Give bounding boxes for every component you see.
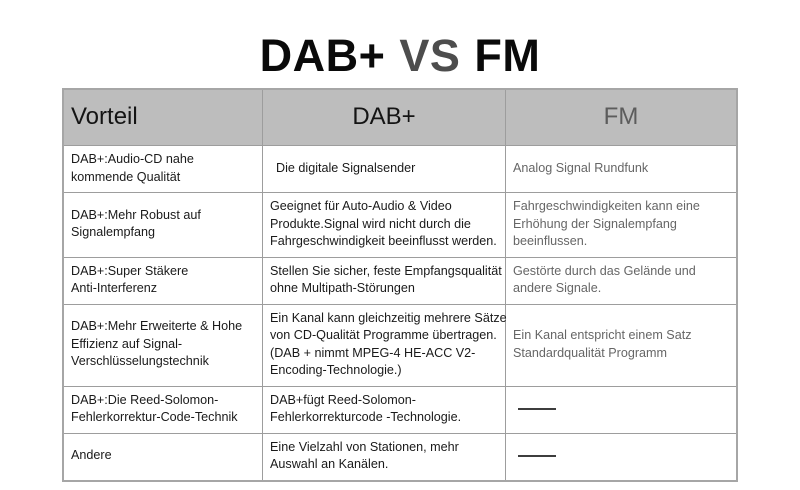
table-header-row: Vorteil DAB+ FM [64,90,736,146]
cell-text-line: Fahrgeschwindigkeit beeinflusst werden. [270,233,498,251]
cell-text-line: Erhöhung der Signalempfang [513,216,729,234]
page-root: DAB+VSFM Vorteil DAB+ FM DAB+:Audio-CD n… [0,0,800,490]
cell-text-line: Die digitale Signalsender [276,160,498,178]
cell-text-line: DAB+fügt Reed-Solomon- [270,392,498,410]
table-header: Vorteil DAB+ FM [64,90,736,146]
cell-text-line: Standardqualität Programm [513,345,729,363]
title-dab-plus: DAB+ [260,30,386,81]
cell-text-line: Anti-Interferenz [71,280,255,298]
cell-dab-plus: DAB+fügt Reed-Solomon-Fehlerkorrekturcod… [263,387,506,434]
cell-text-line: Eine Vielzahl von Stationen, mehr [270,439,498,457]
table-row: DAB+:Die Reed-Solomon-Fehlerkorrektur-Co… [64,387,736,434]
dash-icon [518,455,556,457]
cell-text-line: DAB+:Mehr Robust auf [71,207,255,225]
title-fm: FM [474,30,540,81]
cell-text-line: Stellen Sie sicher, feste Empfangsqualit… [270,263,498,281]
cell-text-line: DAB+:Die Reed-Solomon- [71,392,255,410]
cell-text-line: Analog Signal Rundfunk [513,160,729,178]
cell-advantage: DAB+:Super StäkereAnti-Interferenz [64,258,263,305]
cell-dab-plus: Stellen Sie sicher, feste Empfangsqualit… [263,258,506,305]
dash-icon [518,408,556,410]
cell-text-line: DAB+:Audio-CD nahe [71,151,255,169]
table-row: DAB+:Super StäkereAnti-InterferenzStelle… [64,258,736,305]
cell-text-line: Gestörte durch das Gelände und [513,263,729,281]
cell-advantage: DAB+:Mehr Erweiterte & HoheEffizienz auf… [64,305,263,387]
column-header-dab-plus: DAB+ [263,90,506,146]
cell-fm [506,434,736,480]
cell-text-line: DAB+:Super Stäkere [71,263,255,281]
table-row: AndereEine Vielzahl von Stationen, mehrA… [64,434,736,480]
column-header-fm: FM [506,90,736,146]
cell-text-line: Ein Kanal kann gleichzeitig mehrere Sätz… [270,310,498,328]
cell-text-line: Geeignet für Auto-Audio & Video [270,198,498,216]
table-body: DAB+:Audio-CD nahekommende QualitätDie d… [64,146,736,480]
cell-text-line: Fehlerkorrekturcode -Technologie. [270,409,498,427]
comparison-table: Vorteil DAB+ FM DAB+:Audio-CD nahekommen… [64,90,736,480]
cell-fm: Gestörte durch das Gelände undandere Sig… [506,258,736,305]
comparison-table-container: Vorteil DAB+ FM DAB+:Audio-CD nahekommen… [62,88,738,482]
cell-dab-plus: Geeignet für Auto-Audio & VideoProdukte.… [263,193,506,258]
cell-text-line: kommende Qualität [71,169,255,187]
cell-text-line: Fehlerkorrektur-Code-Technik [71,409,255,427]
page-title: DAB+VSFM [0,30,800,82]
cell-text-line: Produkte.Signal wird nicht durch die [270,216,498,234]
cell-text-line: Auswahl an Kanälen. [270,456,498,474]
cell-fm [506,387,736,434]
cell-text-line: andere Signale. [513,280,729,298]
cell-text-line: Ein Kanal entspricht einem Satz [513,327,729,345]
cell-text-line: Verschlüsselungstechnik [71,353,255,371]
cell-text-line: (DAB + nimmt MPEG-4 HE-ACC V2- [270,345,498,363]
cell-dab-plus: Die digitale Signalsender [263,146,506,193]
cell-text-line: Andere [71,447,255,465]
cell-dab-plus: Ein Kanal kann gleichzeitig mehrere Sätz… [263,305,506,387]
cell-advantage: DAB+:Die Reed-Solomon-Fehlerkorrektur-Co… [64,387,263,434]
cell-fm: Fahrgeschwindigkeiten kann eineErhöhung … [506,193,736,258]
cell-text-line: DAB+:Mehr Erweiterte & Hohe [71,318,255,336]
cell-dab-plus: Eine Vielzahl von Stationen, mehrAuswahl… [263,434,506,480]
cell-advantage: DAB+:Mehr Robust aufSignalempfang [64,193,263,258]
table-row: DAB+:Mehr Erweiterte & HoheEffizienz auf… [64,305,736,387]
cell-text-line: ohne Multipath-Störungen [270,280,498,298]
cell-text-line: Effizienz auf Signal- [71,336,255,354]
cell-text-line: von CD-Qualität Programme übertragen. [270,327,498,345]
column-header-vorteil: Vorteil [64,90,263,146]
table-row: DAB+:Mehr Robust aufSignalempfangGeeigne… [64,193,736,258]
cell-fm: Ein Kanal entspricht einem SatzStandardq… [506,305,736,387]
cell-text-line: Fahrgeschwindigkeiten kann eine [513,198,729,216]
cell-advantage: DAB+:Audio-CD nahekommende Qualität [64,146,263,193]
cell-text-line: beeinflussen. [513,233,729,251]
cell-fm: Analog Signal Rundfunk [506,146,736,193]
table-row: DAB+:Audio-CD nahekommende QualitätDie d… [64,146,736,193]
cell-text-line: Signalempfang [71,224,255,242]
cell-text-line: Encoding-Technologie.) [270,362,498,380]
cell-advantage: Andere [64,434,263,480]
title-vs: VS [399,30,460,81]
